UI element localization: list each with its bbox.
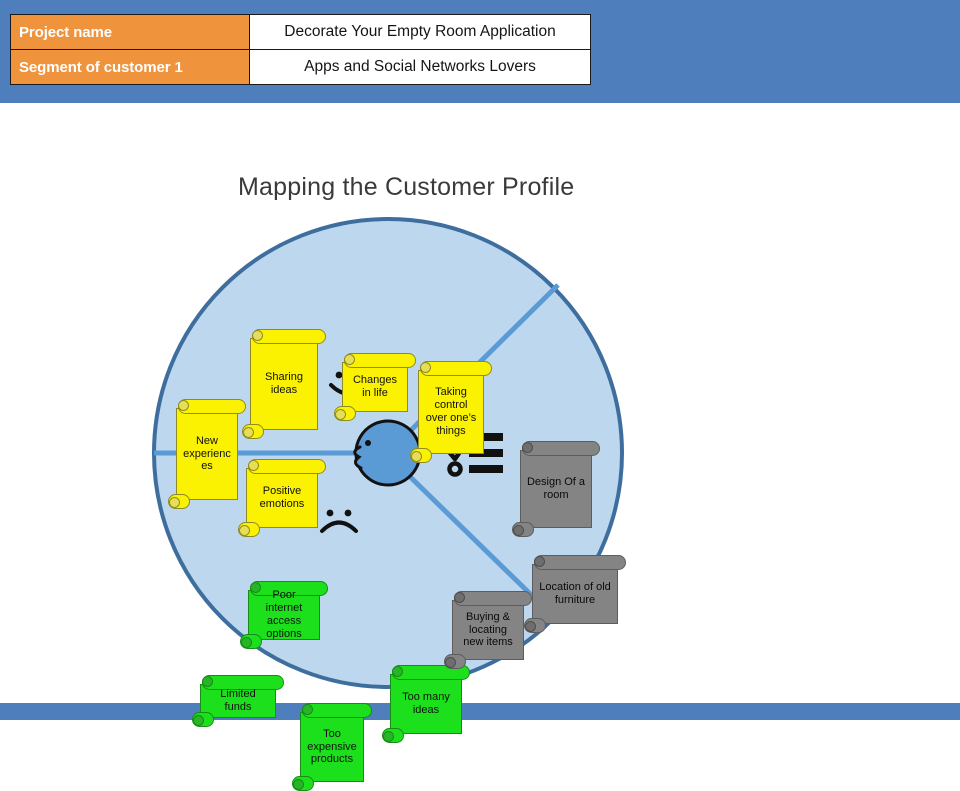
footer-band [0, 703, 960, 720]
scroll-body: Limited funds [200, 684, 276, 718]
scroll-body: Design Of a room [520, 450, 592, 528]
scroll-body: Sharing ideas [250, 338, 318, 430]
scroll-bottom-knob-icon [411, 451, 422, 462]
job-note[interactable]: Buying & locating new items [452, 591, 524, 669]
gain-note-label: Sharing ideas [256, 371, 312, 397]
scroll-bottom-knob-icon [243, 427, 254, 438]
scroll-body: Changes in life [342, 362, 408, 412]
scroll-bottom-knob-icon [383, 731, 394, 742]
segment-value: Apps and Social Networks Lovers [250, 50, 591, 85]
gain-note-label: New experiences [182, 435, 232, 474]
pain-note[interactable]: Poor internet access options [248, 581, 320, 649]
gain-note[interactable]: Changes in life [342, 353, 408, 421]
scroll-bottom-knob-icon [241, 637, 252, 648]
scroll-body: New experiences [176, 408, 238, 500]
scroll-bottom-knob-icon [525, 621, 536, 632]
scroll-bottom-knob-icon [293, 779, 304, 790]
job-note[interactable]: Location of old furniture [532, 555, 618, 633]
scroll-body: Poor internet access options [248, 590, 320, 640]
scroll-body: Taking control over one’s things [418, 370, 484, 454]
slide-canvas: Mapping the Customer Profile [0, 103, 960, 703]
gain-note[interactable]: Positive emotions [246, 459, 318, 537]
gain-note-label: Positive emotions [252, 485, 312, 511]
scroll-top-knob-icon [534, 556, 545, 567]
scroll-top-knob-icon [522, 442, 533, 453]
scroll-top-roll [248, 459, 326, 474]
project-name-value: Decorate Your Empty Room Application [250, 15, 591, 50]
scroll-top-roll [252, 329, 326, 344]
table-row: Project name Decorate Your Empty Room Ap… [11, 15, 591, 50]
job-note-label: Buying & locating new items [458, 611, 518, 650]
project-name-label: Project name [11, 15, 250, 50]
scroll-bottom-knob-icon [513, 525, 524, 536]
scroll-bottom-knob-icon [239, 525, 250, 536]
scroll-top-roll [454, 591, 532, 606]
gain-note-label: Changes in life [348, 374, 402, 400]
scroll-top-knob-icon [302, 704, 313, 715]
scroll-top-knob-icon [454, 592, 465, 603]
pain-note[interactable]: Too many ideas [390, 665, 462, 743]
gain-note-label: Taking control over one’s things [424, 386, 478, 438]
scroll-top-knob-icon [248, 460, 259, 471]
scroll-top-knob-icon [178, 400, 189, 411]
pain-note-label: Poor internet access options [254, 589, 314, 641]
gain-note[interactable]: Sharing ideas [250, 329, 318, 439]
pain-note-label: Limited funds [206, 688, 270, 714]
job-note-label: Design Of a room [526, 476, 586, 502]
info-table-body: Project name Decorate Your Empty Room Ap… [11, 15, 591, 85]
job-note[interactable]: Design Of a room [520, 441, 592, 537]
pain-note-label: Too expensive products [306, 728, 358, 767]
scroll-bottom-knob-icon [193, 715, 204, 726]
scroll-top-knob-icon [344, 354, 355, 365]
scroll-body: Too many ideas [390, 674, 462, 734]
scroll-top-roll [534, 555, 626, 570]
scroll-bottom-knob-icon [335, 409, 346, 420]
scroll-body: Buying & locating new items [452, 600, 524, 660]
pain-note[interactable]: Limited funds [200, 675, 276, 727]
scroll-bottom-knob-icon [169, 497, 180, 508]
scroll-body: Too expensive products [300, 712, 364, 782]
gain-note[interactable]: Taking control over one’s things [418, 361, 484, 463]
scroll-top-knob-icon [202, 676, 213, 687]
scroll-body: Positive emotions [246, 468, 318, 528]
table-row: Segment of customer 1 Apps and Social Ne… [11, 50, 591, 85]
pain-note-label: Too many ideas [396, 691, 456, 717]
project-info-table: Project name Decorate Your Empty Room Ap… [10, 14, 591, 85]
scroll-top-knob-icon [392, 666, 403, 677]
pain-note[interactable]: Too expensive products [300, 703, 364, 791]
scroll-body: Location of old furniture [532, 564, 618, 624]
job-note-label: Location of old furniture [538, 581, 612, 607]
scroll-top-knob-icon [252, 330, 263, 341]
scroll-top-roll [522, 441, 600, 456]
scroll-bottom-knob-icon [445, 657, 456, 668]
segment-label: Segment of customer 1 [11, 50, 250, 85]
scroll-top-knob-icon [420, 362, 431, 373]
gain-note[interactable]: New experiences [176, 399, 238, 509]
